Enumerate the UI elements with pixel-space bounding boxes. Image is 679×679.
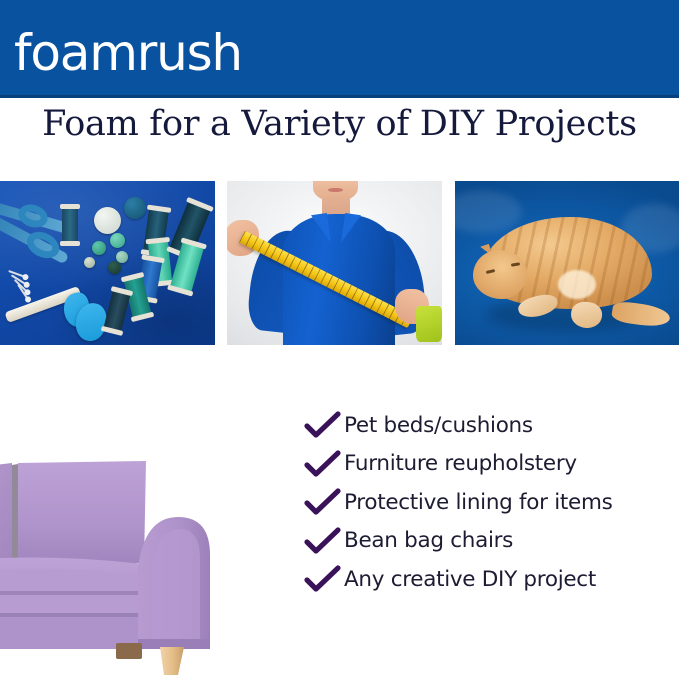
cat-belly: [558, 270, 596, 300]
check-icon: [302, 410, 344, 440]
button: [84, 257, 95, 268]
sofa-rolled-arm: [138, 517, 210, 649]
button: [124, 197, 146, 219]
list-item: Any creative DIY project: [302, 560, 679, 599]
brand-logo: foamrush: [14, 22, 242, 84]
list-item: Bean bag chairs: [302, 522, 679, 561]
list-item: Furniture reupholstery: [302, 445, 679, 484]
list-item-label: Pet beds/cushions: [344, 415, 533, 437]
check-icon: [302, 487, 344, 517]
sofa-skirt-seam: [0, 613, 160, 617]
check-icon: [302, 526, 344, 556]
sewing-supplies-photo: [0, 181, 215, 345]
cat-on-beanbag-photo: [455, 181, 679, 345]
check-icon: [302, 564, 344, 594]
button: [92, 241, 106, 255]
measuring-tape-case: [416, 306, 442, 342]
cat-head: [473, 250, 527, 299]
button: [94, 207, 121, 234]
sofa-back-cushions: [0, 461, 146, 569]
benefits-list: Pet beds/cushions Furniture reupholstery…: [302, 406, 679, 599]
page-title: Foam for a Variety of DIY Projects: [0, 104, 679, 144]
photo-strip: [0, 181, 679, 345]
list-item-label: Protective lining for items: [344, 492, 613, 514]
thread-spool: [62, 205, 78, 245]
measuring-tape-photo: [227, 181, 442, 345]
header-band: foamrush: [0, 0, 679, 98]
list-item-label: Any creative DIY project: [344, 569, 596, 591]
list-item-label: Furniture reupholstery: [344, 453, 577, 475]
button: [108, 261, 121, 274]
list-item: Pet beds/cushions: [302, 406, 679, 445]
button: [110, 233, 125, 248]
sofa-illustration: [0, 443, 258, 679]
list-item: Protective lining for items: [302, 483, 679, 522]
check-icon: [302, 449, 344, 479]
sofa-seat-cushions: [0, 568, 156, 613]
list-item-label: Bean bag chairs: [344, 530, 513, 552]
